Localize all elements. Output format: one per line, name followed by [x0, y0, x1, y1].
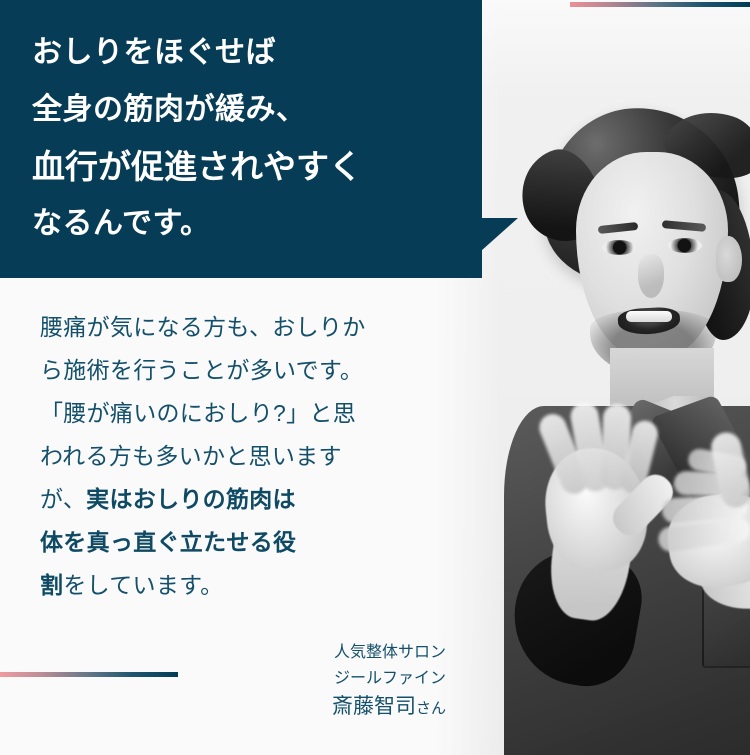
headline-line-1: おしりをほぐせば [32, 24, 468, 81]
body-line-4-normal: われる方も多いかと思います [40, 443, 342, 469]
attribution-person-honorific: さん [416, 700, 446, 717]
body-line-1: 腰痛が気になる方も、おしりか [40, 306, 430, 349]
body-line-7-bold: 割 [40, 572, 63, 598]
headline-text-block: おしりをほぐせば 全身の筋肉が緩み、 血行が促進されやすく なるんです。 [32, 24, 468, 252]
headline-line-4: なるんです。 [32, 195, 468, 252]
body-line-6-bold: 体を真っ直ぐ立たせる役 [40, 529, 296, 555]
body-line-6: 体を真っ直ぐ立たせる役 [40, 521, 430, 564]
headline-line-2: 全身の筋肉が緩み、 [32, 81, 468, 138]
attribution-person: 斎藤智司さん [266, 692, 446, 724]
body-line-3-normal: 「腰が痛いのにおしり?」と思 [40, 400, 356, 426]
body-paragraph: 腰痛が気になる方も、おしりか ら施術を行うことが多いです。 「腰が痛いのにおしり… [40, 306, 430, 607]
body-line-7-normal: をしています。 [63, 572, 223, 598]
body-line-7: 割をしています。 [40, 564, 430, 607]
gradient-rule-top [570, 2, 750, 7]
speech-bubble-tail [481, 218, 518, 251]
headline-line-3: 血行が促進されやすく [32, 138, 468, 195]
attribution-salon-name: ジールファイン [266, 666, 446, 692]
promo-panel: おしりをほぐせば 全身の筋肉が緩み、 血行が促進されやすく なるんです。 腰痛が… [0, 0, 750, 755]
headline-speech-bubble: おしりをほぐせば 全身の筋肉が緩み、 血行が促進されやすく なるんです。 [0, 0, 482, 278]
body-line-5-bold: 実はおしりの筋肉は [86, 486, 296, 512]
gradient-rule-bottom [0, 672, 178, 677]
attribution-block: 人気整体サロン ジールファイン 斎藤智司さん [266, 640, 446, 724]
body-line-4: われる方も多いかと思います [40, 435, 430, 478]
body-line-2-normal: ら施術を行うことが多いです。 [40, 357, 363, 383]
body-line-5-normal: が、 [40, 486, 86, 512]
attribution-person-name: 斎藤智司 [332, 695, 416, 718]
attribution-salon-descriptor: 人気整体サロン [266, 640, 446, 666]
body-line-1-normal: 腰痛が気になる方も、おしりか [40, 314, 366, 340]
body-line-3: 「腰が痛いのにおしり?」と思 [40, 392, 430, 435]
body-line-5: が、実はおしりの筋肉は [40, 478, 430, 521]
body-line-2: ら施術を行うことが多いです。 [40, 349, 430, 392]
